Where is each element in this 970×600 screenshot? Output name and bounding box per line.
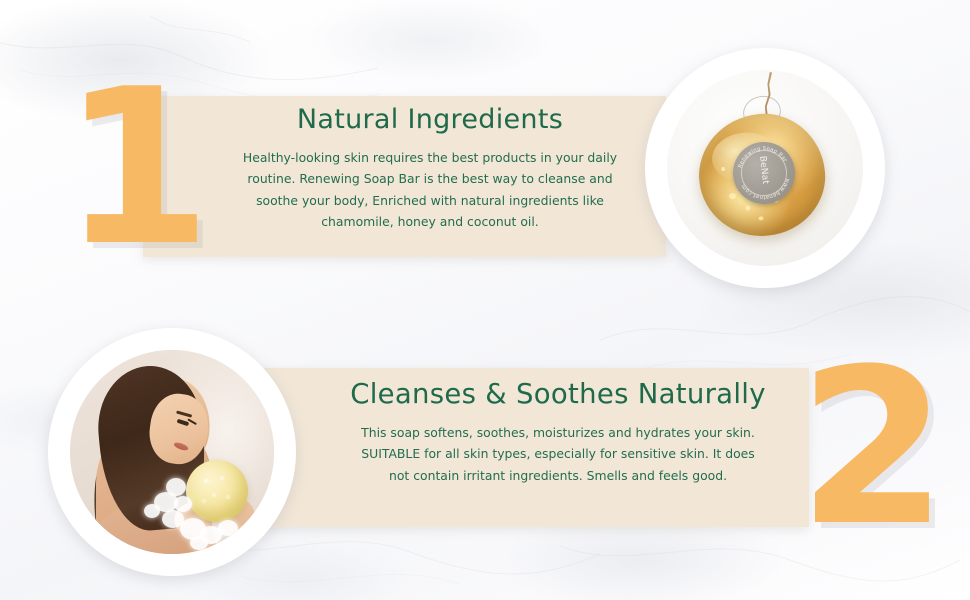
- section-1-text-block: Natural Ingredients Healthy-looking skin…: [205, 104, 655, 232]
- woman-photo-inner: [70, 350, 274, 554]
- woman-scene: [70, 350, 274, 554]
- soap-scene: Renewing Soap Bar www.benatnet.com BeNat: [667, 70, 863, 266]
- section-2-body-line: This soap softens, soothes, moisturizes …: [318, 422, 798, 443]
- section-2-text-block: Cleanses & Soothes Naturally This soap s…: [318, 378, 798, 486]
- soap-product-photo: Renewing Soap Bar www.benatnet.com BeNat: [645, 48, 885, 288]
- section-1-body-line: routine. Renewing Soap Bar is the best w…: [205, 168, 655, 189]
- section-1-body-line: chamomile, honey and coconut oil.: [205, 211, 655, 232]
- section-2-body-line: not contain irritant ingredients. Smells…: [318, 465, 798, 486]
- section-1-number: 1: [62, 60, 208, 275]
- infographic-canvas: 1 Natural Ingredients Healthy-looking sk…: [0, 0, 970, 600]
- section-1-body-line: soothe your body, Enriched with natural …: [205, 190, 655, 211]
- section-1-headline: Natural Ingredients: [205, 104, 655, 135]
- section-2-body-line: SUITABLE for all skin types, especially …: [318, 443, 798, 464]
- section-2-body: This soap softens, soothes, moisturizes …: [318, 422, 798, 486]
- section-1-body: Healthy-looking skin requires the best p…: [205, 147, 655, 232]
- soap-photo-inner: Renewing Soap Bar www.benatnet.com BeNat: [667, 70, 863, 266]
- soap-brand-label: Renewing Soap Bar www.benatnet.com BeNat: [729, 138, 799, 208]
- woman-shower-photo: [48, 328, 296, 576]
- loofah-sponge: [186, 460, 248, 522]
- section-2-number: 2: [798, 340, 948, 555]
- section-2-headline: Cleanses & Soothes Naturally: [318, 378, 798, 410]
- section-1-body-line: Healthy-looking skin requires the best p…: [205, 147, 655, 168]
